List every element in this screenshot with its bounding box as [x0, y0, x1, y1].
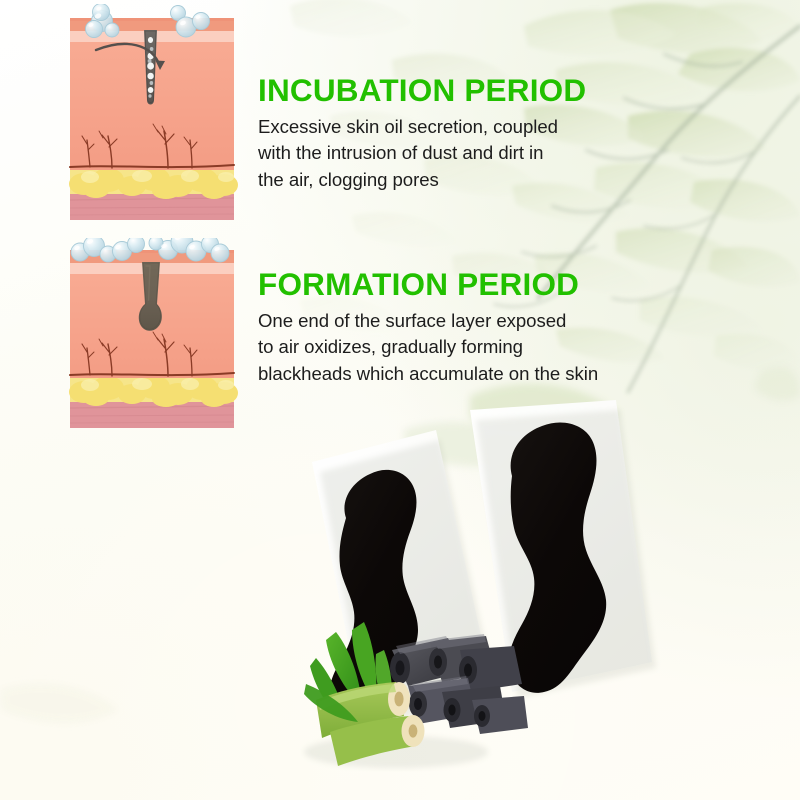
infographic-canvas: INCUBATION PERIOD Excessive skin oil sec…	[0, 0, 800, 800]
body-line: blackheads which accumulate on the skin	[258, 361, 698, 387]
skin-diagram-formation	[56, 238, 246, 434]
heading-formation: FORMATION PERIOD	[258, 268, 698, 301]
body-incubation: Excessive skin oil secretion, coupled wi…	[258, 114, 660, 193]
body-line: Excessive skin oil secretion, coupled	[258, 114, 660, 140]
body-line: to air oxidizes, gradually forming	[258, 334, 698, 360]
body-line: the air, clogging pores	[258, 167, 660, 193]
body-line: with the intrusion of dust and dirt in	[258, 140, 660, 166]
body-formation: One end of the surface layer exposed to …	[258, 308, 698, 387]
body-line: One end of the surface layer exposed	[258, 308, 698, 334]
bamboo-charcoal-ingredient	[304, 622, 528, 768]
skin-diagram-incubation	[56, 4, 246, 226]
text-block-formation: FORMATION PERIOD One end of the surface …	[258, 268, 698, 387]
heading-incubation: INCUBATION PERIOD	[258, 74, 660, 107]
text-block-incubation: INCUBATION PERIOD Excessive skin oil sec…	[258, 74, 660, 193]
product-photo-charcoal-nose-strips	[300, 400, 800, 800]
